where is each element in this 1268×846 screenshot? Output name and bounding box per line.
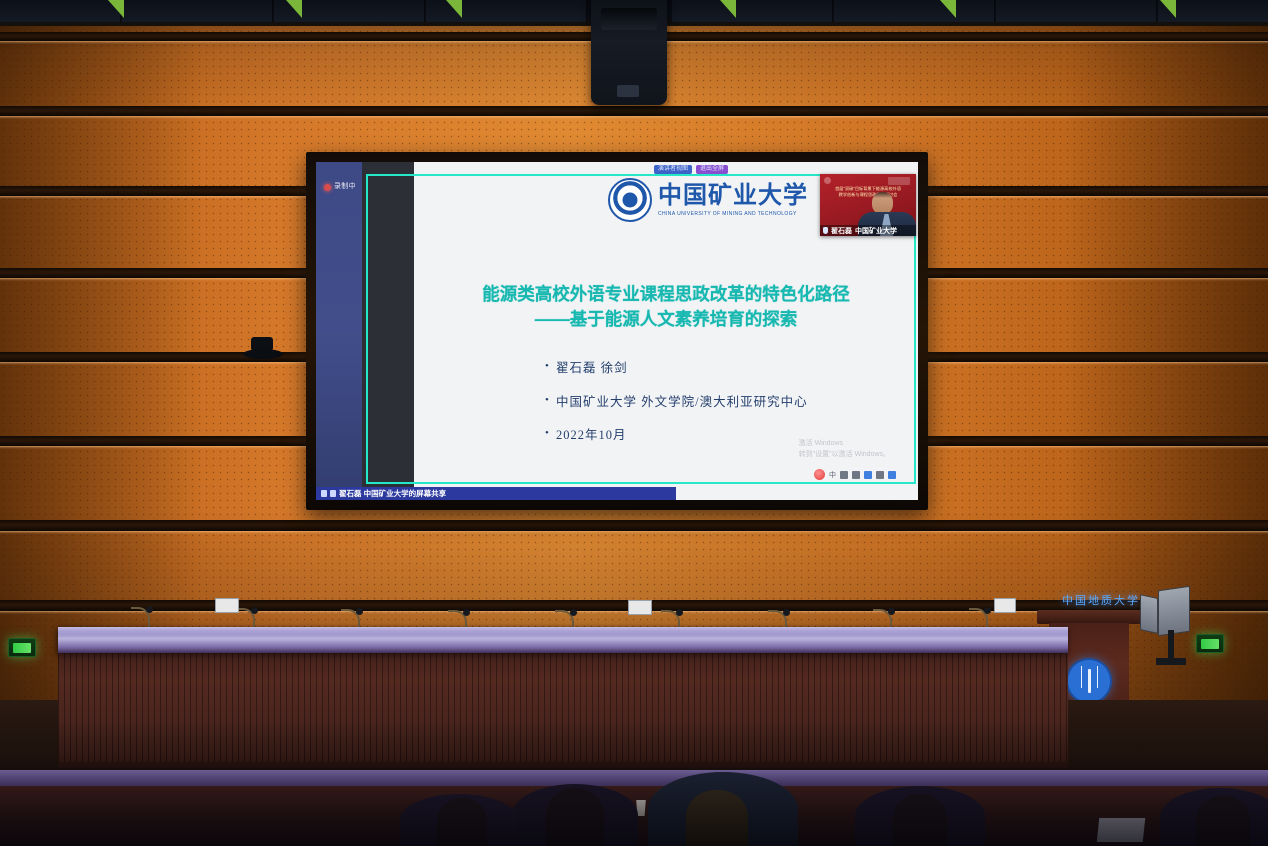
monitor-stand [1168,630,1174,660]
camera-mount [243,349,283,359]
share-status-label: 翟石磊 中国矿业大学的屏幕共享 [339,488,446,499]
document-sheet [1097,818,1146,842]
share-icon [330,490,336,497]
audience-head [1196,796,1250,846]
wall-band-highlight [0,531,1268,534]
podium-emblem-icon [1066,658,1112,704]
audience-head [893,794,947,846]
presenter-org: 中国矿业大学 [855,226,897,236]
recording-label: 录制中 [334,181,356,191]
slide-title-line2: ——基于能源人文素养培育的探索 [414,307,918,332]
list-item: 2022年10月 [556,429,808,442]
slide-title-line1: 能源类高校外语专业课程思政改革的特色化路径 [414,282,918,307]
wall-band-highlight [0,116,1268,119]
desk-panel-ribs [58,652,1068,762]
slide-title: 能源类高校外语专业课程思政改革的特色化路径 ——基于能源人文素养培育的探索 [414,282,918,332]
lecture-hall-photo: 录制中 演讲者视图 退出全屏 中国矿业大学 CHINA UNIVERSITY O… [0,0,1268,846]
pip-event-logo [888,177,910,185]
monitor-icon [321,490,327,497]
presenter-video-thumbnail[interactable]: 首届"双碳"目标背景下能源高校外语 教学创新与课程思政建设研讨会 翟石磊 中国矿… [820,174,916,236]
ime-settings-icon[interactable] [876,471,884,479]
podium-top [1037,610,1141,624]
ceiling-accent [940,0,956,18]
ime-mode-label[interactable]: 中 [829,470,836,480]
ceiling-accent [108,0,124,18]
meeting-top-toolbar[interactable]: 演讲者视图 退出全屏 [654,165,728,174]
ceiling-panel [834,0,995,22]
presenter-name: 翟石磊 [831,226,852,236]
university-name-en: CHINA UNIVERSITY OF MINING AND TECHNOLOG… [658,211,808,217]
ime-keyboard-icon[interactable] [888,471,896,479]
toolbar-chip-speaker-view[interactable]: 演讲者视图 [654,165,692,174]
ceiling-panel [0,0,121,22]
wall-band [0,106,1268,116]
ceiling-panel [122,0,273,22]
ceiling-panel [672,0,833,22]
ime-microphone-icon[interactable] [852,471,860,479]
exit-sign-right [1196,634,1224,653]
screen-share-status-bar: 翟石磊 中国矿业大学的屏幕共享 [316,487,676,500]
conference-app-gutter [362,162,414,500]
exit-sign-glyph [13,643,31,653]
ime-punctuation-icon[interactable] [840,471,848,479]
conference-app-left-rail [316,162,362,500]
exit-sign-glyph [1201,639,1219,649]
audience-head [437,798,487,846]
wall-camera [243,337,283,363]
wall-control-panel[interactable] [994,598,1016,613]
wall-control-panel[interactable] [215,598,239,613]
monitor-base [1156,658,1186,665]
side-monitor [1140,594,1158,634]
ceiling-speaker [591,0,667,105]
list-item: 中国矿业大学 外文学院/澳大利亚研究中心 [556,396,808,409]
university-name-cn: 中国矿业大学 [658,184,808,208]
side-monitor [1158,586,1190,636]
ceiling-accent [286,0,302,18]
audience-head [686,790,748,846]
university-logo: 中国矿业大学 CHINA UNIVERSITY OF MINING AND TE… [608,178,808,222]
watermark-line1: 激活 Windows [799,439,890,450]
slide-bullet-list: 翟石磊 徐剑 中国矿业大学 外文学院/澳大利亚研究中心 2022年10月 [556,362,808,463]
presenter-head [872,192,893,214]
presenter-name-badge: 翟石磊 中国矿业大学 [820,225,916,236]
ceiling-accent [1160,0,1176,18]
led-display-frame: 录制中 演讲者视图 退出全屏 中国矿业大学 CHINA UNIVERSITY O… [306,152,928,510]
microphone-icon [823,227,828,234]
speaker-badge [617,85,639,97]
toolbar-chip-exit-fullscreen[interactable]: 退出全屏 [696,165,728,174]
desk-top-highlight [58,627,1068,635]
ceiling-accent [446,0,462,18]
ceiling-panel [996,0,1157,22]
windows-activation-watermark: 激活 Windows 转到"设置"以激活 Windows。 [799,439,890,460]
university-seal-icon [608,178,652,222]
ime-toolbox-icon[interactable] [864,471,872,479]
exit-sign-left [8,638,36,657]
pip-mic-icon [824,177,831,184]
recording-indicator-icon [324,184,331,191]
wall-band [0,520,1268,531]
audience-head [546,788,604,846]
ceiling-accent [720,0,736,18]
list-item: 翟石磊 徐剑 [556,362,808,375]
led-display[interactable]: 录制中 演讲者视图 退出全屏 中国矿业大学 CHINA UNIVERSITY O… [316,162,918,500]
watermark-line2: 转到"设置"以激活 Windows。 [799,450,890,461]
wall-control-panel[interactable] [628,600,652,615]
ime-toolbar[interactable]: 中 [814,469,896,480]
sogou-ime-icon[interactable] [814,469,825,480]
